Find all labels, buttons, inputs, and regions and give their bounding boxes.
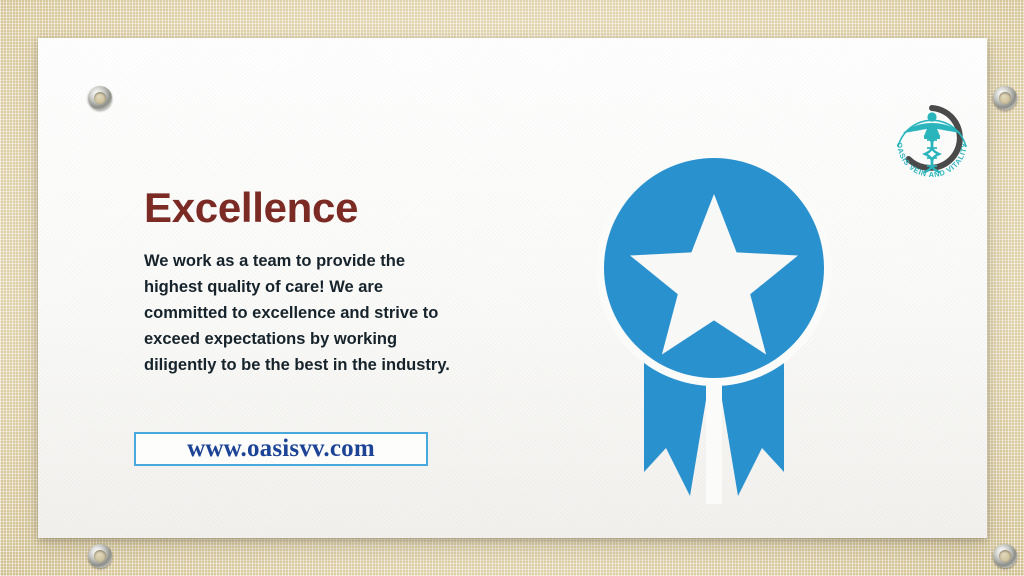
content-text-column: Excellence We work as a team to provide … [144, 186, 474, 378]
award-ribbon-graphic [586, 156, 842, 504]
grommet-top-right-icon [993, 86, 1017, 110]
company-logo[interactable]: OASIS VEIN AND VITALITY [884, 92, 980, 188]
website-url-text: www.oasisvv.com [187, 435, 375, 463]
award-ribbon-star-icon [586, 156, 842, 504]
slide-canvas-background: Excellence We work as a team to provide … [0, 0, 1024, 576]
logo-figure-body [903, 123, 961, 139]
logo-figure-head [927, 112, 936, 121]
banner-card: Excellence We work as a team to provide … [38, 38, 987, 538]
grommet-bottom-left-icon [88, 544, 112, 568]
oasis-vein-and-vitality-logo-icon: OASIS VEIN AND VITALITY [884, 92, 980, 188]
grommet-top-left-icon [88, 86, 112, 110]
website-url-box[interactable]: www.oasisvv.com [134, 432, 428, 466]
page-title: Excellence [144, 186, 474, 230]
grommet-bottom-right-icon [993, 544, 1017, 568]
body-paragraph: We work as a team to provide the highest… [144, 248, 462, 378]
